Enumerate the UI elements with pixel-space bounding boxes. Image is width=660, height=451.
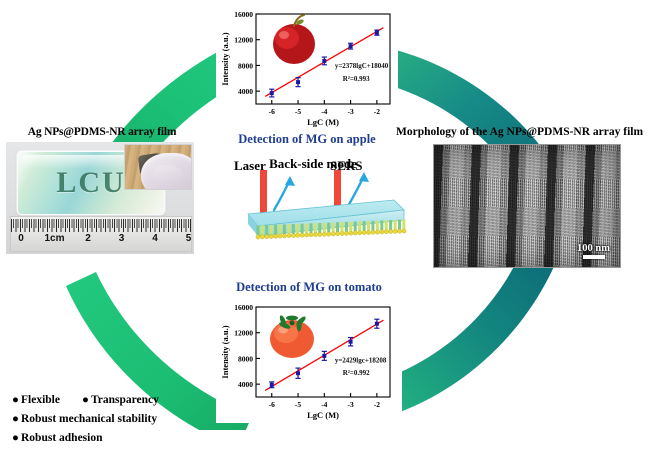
chart-apple: 400080001200016000-6-5-4-3-2LgC (M)Inten… <box>216 4 398 147</box>
scale-bar: 100 nm <box>577 243 610 259</box>
chart-tomato-title: Detection of MG on tomato <box>216 280 402 295</box>
chart-tomato-svg: 400080001200016000-6-5-4-3-2LgC (M)Inten… <box>216 297 398 423</box>
feature-label: Flexible <box>21 394 60 406</box>
scale-bar-line <box>583 255 605 259</box>
backside-mode-scheme: Laser SERS <box>218 156 408 274</box>
figure-canvas: Ag NPs@PDMS-NR array film LCU 01cm2345 ●… <box>0 0 660 430</box>
film-photograph: LCU 01cm2345 <box>6 142 194 254</box>
ag-nanoparticle <box>265 235 269 239</box>
chart-annotation: y=2378lgC+18040 <box>335 62 389 70</box>
x-axis-label: LgC (M) <box>307 410 339 420</box>
ag-nanoparticle <box>389 229 393 233</box>
nanorod <box>318 223 321 233</box>
ag-nanoparticle <box>296 233 300 237</box>
nanorod <box>283 224 286 234</box>
fingertip <box>153 165 183 187</box>
ag-nanoparticle <box>344 231 348 235</box>
ruler-label: 0 <box>18 233 24 244</box>
y-tick-label: 8000 <box>238 354 253 363</box>
x-axis-label: LgC (M) <box>307 117 339 127</box>
feature-list: ●Flexible●Transparency●Robust mechanical… <box>12 394 212 451</box>
nanorod <box>261 225 264 235</box>
scattered-arrowhead-right <box>359 172 369 182</box>
x-tick-label: -5 <box>295 107 301 116</box>
nanorod <box>363 221 366 231</box>
chart-apple-title: Detection of MG on apple <box>216 132 398 147</box>
left-panel: Ag NPs@PDMS-NR array film LCU 01cm2345 ●… <box>6 126 198 254</box>
nanorod <box>345 222 348 232</box>
y-tick-label: 4000 <box>238 87 253 96</box>
x-tick-label: -2 <box>374 107 380 116</box>
nanorod <box>327 223 330 233</box>
y-tick-label: 8000 <box>238 61 253 70</box>
nanorod <box>367 221 370 231</box>
ag-nanoparticle <box>371 230 375 234</box>
ag-nanoparticle <box>287 234 291 238</box>
ag-nanoparticle <box>300 233 304 237</box>
ruler-number-labels: 01cm2345 <box>11 233 191 249</box>
ag-nanoparticle <box>269 234 273 238</box>
ag-nanoparticle <box>282 234 286 238</box>
nanorod <box>341 222 344 232</box>
x-tick-label: -3 <box>347 400 353 409</box>
feature-label: Transparency <box>91 394 159 406</box>
x-tick-label: -4 <box>321 400 327 409</box>
chart-apple-plot: 400080001200016000-6-5-4-3-2LgC (M)Inten… <box>216 4 398 130</box>
nanorod <box>270 225 273 235</box>
chart-apple-svg: 400080001200016000-6-5-4-3-2LgC (M)Inten… <box>216 4 398 130</box>
ruler-label: 5 <box>186 233 192 244</box>
y-tick-label: 16000 <box>234 303 253 312</box>
bullet-icon: ● <box>12 394 21 406</box>
chart-annotation: R²=0.993 <box>343 75 370 83</box>
nanorod <box>349 222 352 232</box>
scattered-arrowhead-left <box>285 176 295 186</box>
nanorod <box>279 225 282 235</box>
ruler-label: 1cm <box>44 233 64 244</box>
x-tick-label: -3 <box>347 107 353 116</box>
ag-nanoparticle <box>331 232 335 236</box>
left-panel-title: Ag NPs@PDMS-NR array film <box>6 126 198 138</box>
y-tick-label: 4000 <box>238 380 253 389</box>
x-tick-label: -2 <box>374 400 380 409</box>
ag-nanoparticle <box>362 231 366 235</box>
x-tick-label: -6 <box>269 400 275 409</box>
y-tick-label: 16000 <box>234 10 253 19</box>
bullet-icon: ● <box>82 394 91 406</box>
chart-annotation: y=2429lgc+18208 <box>335 356 387 364</box>
nanorod <box>310 223 313 233</box>
apple-gloss <box>279 31 289 39</box>
y-axis-label: Intensity (a.u.) <box>220 325 230 378</box>
ag-nanoparticle <box>353 231 357 235</box>
ag-nanoparticle <box>274 234 278 238</box>
nanorod <box>274 225 277 235</box>
nanorod <box>265 225 268 235</box>
feature-label: Robust mechanical stability <box>21 413 157 425</box>
ag-nanoparticle <box>278 234 282 238</box>
x-tick-label: -6 <box>269 107 275 116</box>
sem-micrograph: 100 nm <box>433 144 621 268</box>
ag-nanoparticle <box>336 232 340 236</box>
nanorod <box>389 220 392 230</box>
ag-nanoparticle <box>318 232 322 236</box>
nanorod <box>371 221 374 231</box>
nanorod <box>296 224 299 234</box>
nanorod <box>336 222 339 232</box>
ag-nanoparticle <box>256 235 260 239</box>
nanorod <box>376 221 379 231</box>
chart-tomato: Detection of MG on tomato 40008000120001… <box>216 280 402 423</box>
y-tick-label: 12000 <box>234 36 253 45</box>
ag-nanoparticle <box>349 231 353 235</box>
tomato-stem <box>290 321 295 326</box>
nanorod <box>385 220 388 230</box>
feature-label: Robust adhesion <box>21 432 103 444</box>
nanorod <box>314 223 317 233</box>
scheme-svg <box>218 170 408 266</box>
y-tick-label: 12000 <box>234 329 253 338</box>
nanorod <box>358 221 361 231</box>
nanorod <box>354 222 357 232</box>
chart-annotation: R²=0.992 <box>343 369 370 377</box>
ag-nanoparticle <box>305 233 309 237</box>
x-tick-label: -4 <box>321 107 327 116</box>
nanorod <box>292 224 295 234</box>
chart-tomato-plot: 400080001200016000-6-5-4-3-2LgC (M)Inten… <box>216 297 402 423</box>
ruler-label: 4 <box>152 233 158 244</box>
ag-nanoparticle <box>291 233 295 237</box>
right-panel: Morphology of the Ag NPs@PDMS-NR array f… <box>396 126 658 268</box>
ag-nanoparticle <box>322 232 326 236</box>
ag-nanoparticle <box>313 233 317 237</box>
ruler-label: 3 <box>119 233 125 244</box>
scale-bar-label: 100 nm <box>577 243 610 254</box>
ag-nanoparticle <box>375 230 379 234</box>
y-axis-label: Intensity (a.u.) <box>220 32 230 85</box>
right-panel-title: Morphology of the Ag NPs@PDMS-NR array f… <box>396 126 658 138</box>
gloved-hand-inset <box>124 144 192 190</box>
ag-nanoparticle <box>384 230 388 234</box>
ag-nanoparticle <box>340 231 344 235</box>
nanorod <box>380 220 383 230</box>
nanorod <box>287 224 290 234</box>
ruler-minor-ticks <box>11 219 191 228</box>
ag-nanoparticle <box>358 231 362 235</box>
ag-nanoparticle <box>380 230 384 234</box>
bullet-icon: ● <box>12 432 21 444</box>
data-point <box>374 30 379 35</box>
ag-nanoparticle <box>260 235 264 239</box>
nanorod <box>256 226 259 236</box>
ag-nanoparticle <box>309 233 313 237</box>
ruler-label: 2 <box>85 233 91 244</box>
nanorod <box>305 224 308 234</box>
bullet-icon: ● <box>12 413 21 425</box>
nanorod <box>323 223 326 233</box>
ag-nanoparticle <box>327 232 331 236</box>
feature-row: ●Robust mechanical stability <box>12 413 212 425</box>
nanorod <box>332 222 335 232</box>
feature-row: ●Robust adhesion <box>12 432 212 444</box>
ag-nanoparticle <box>367 230 371 234</box>
feature-row: ●Flexible●Transparency <box>12 394 212 406</box>
ruler: 01cm2345 <box>10 216 192 252</box>
nanorod <box>301 224 304 234</box>
x-tick-label: -5 <box>295 400 301 409</box>
